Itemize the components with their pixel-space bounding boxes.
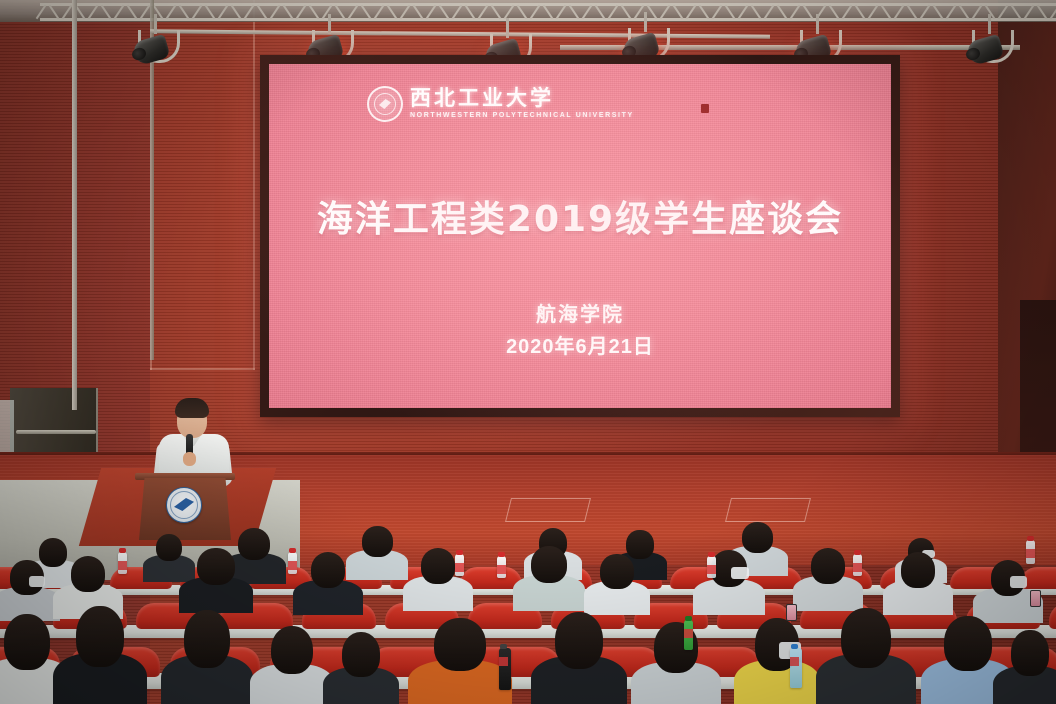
attendee-head (4, 614, 50, 670)
attendee (0, 560, 54, 616)
attendee (890, 552, 946, 610)
attendee-head (1011, 630, 1048, 676)
water-bottle (118, 552, 127, 574)
slide-title: 海洋工程类2019级学生座谈会 (269, 190, 891, 242)
attendee (800, 548, 856, 606)
attendee-head (944, 616, 991, 671)
water-bottle (288, 552, 297, 574)
attendee-head (434, 618, 486, 671)
attendee-head (271, 626, 313, 674)
stage-floor-hatch (725, 498, 811, 522)
stage-light-1 (128, 14, 184, 70)
stage-light-6 (962, 14, 1018, 70)
attendee-head (156, 534, 182, 561)
slide-subtitle: 航海学院 (269, 298, 891, 327)
attendee (826, 608, 906, 704)
attendee (148, 534, 190, 578)
attendee-head (342, 632, 380, 677)
attendee (540, 612, 618, 704)
water-bottle (707, 556, 716, 578)
attendee (352, 526, 402, 576)
led-screen-frame: 西北工业大学 NORTHWESTERN POLYTECHNICAL UNIVER… (260, 55, 900, 417)
attendee-head (76, 606, 123, 667)
attendee (186, 548, 246, 608)
attendee (640, 622, 712, 704)
attendee-head (421, 548, 456, 584)
logo-institution-en: NORTHWESTERN POLYTECHNICAL UNIVERSITY (410, 112, 634, 120)
attendee (980, 560, 1036, 618)
presenter-hair (175, 398, 209, 418)
water-bottle (684, 620, 693, 650)
attendee (590, 554, 644, 610)
led-presentation-screen[interactable]: 西北工业大学 NORTHWESTERN POLYTECHNICAL UNIVER… (269, 64, 891, 408)
presenter-with-microphone (155, 398, 235, 484)
attendee-head (555, 612, 603, 669)
attendee-head (742, 522, 773, 553)
attendee-head (362, 526, 393, 557)
face-mask (1010, 576, 1027, 588)
water-bottle (853, 554, 862, 576)
attendee-head (600, 554, 633, 589)
screen-marker-dot (701, 104, 709, 113)
university-emblem-icon (166, 487, 202, 523)
auditorium-seat[interactable] (1049, 603, 1056, 629)
stage-floor-hatch (505, 498, 591, 522)
attendee-head (901, 552, 936, 588)
water-bottle (455, 554, 464, 576)
attendee-head (197, 548, 234, 585)
auditorium-photo: 西北工业大学 NORTHWESTERN POLYTECHNICAL UNIVER… (0, 0, 1056, 704)
water-bottle (1026, 540, 1035, 564)
attendee (520, 546, 578, 606)
smartphone[interactable] (1030, 590, 1041, 607)
attendee (1000, 630, 1056, 704)
face-mask (731, 567, 749, 579)
smartphone[interactable] (786, 604, 797, 621)
wall-seam (253, 0, 255, 370)
logo-institution-cn: 西北工业大学 (410, 88, 634, 110)
attendee (300, 552, 356, 610)
attendee-head (531, 546, 567, 583)
lighting-truss (40, 2, 1056, 22)
wall-seam (150, 368, 255, 370)
water-bottle (790, 648, 802, 688)
face-mask (29, 576, 46, 587)
attendee-head (184, 610, 230, 668)
attendee-head (311, 552, 346, 588)
presenter-hand (183, 452, 196, 466)
university-logo: 西北工业大学 NORTHWESTERN POLYTECHNICAL UNIVER… (367, 86, 634, 122)
attendee (330, 632, 392, 704)
ceiling-post (72, 0, 77, 410)
door-push-bar[interactable] (16, 430, 96, 434)
attendee-head (811, 548, 846, 584)
attendee (62, 606, 138, 704)
attendee (258, 626, 326, 704)
attendee (170, 610, 244, 704)
attendee (418, 618, 502, 704)
attendee-head (71, 556, 106, 592)
attendee-head (841, 608, 891, 668)
university-seal-icon (367, 86, 403, 122)
water-bottle (497, 556, 506, 578)
slide-date: 2020年6月21日 (269, 330, 891, 359)
thermos-bottle (499, 648, 511, 690)
